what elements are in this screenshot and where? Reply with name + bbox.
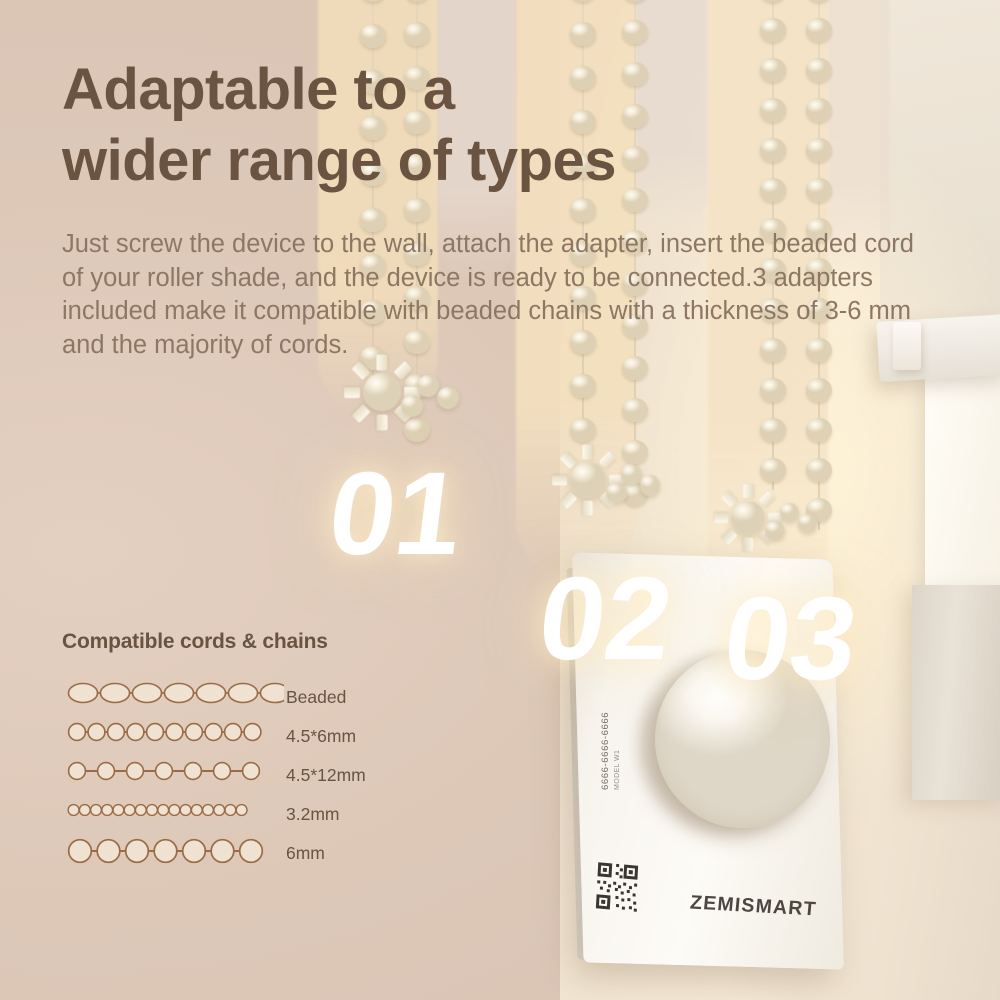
adapter-tooth — [394, 361, 413, 380]
page-title: Adaptable to a wider range of types — [62, 55, 762, 197]
chain-bead — [622, 398, 648, 422]
adapter-tooth — [583, 501, 593, 516]
product-infographic: 6666-6666-6666 MODEL W1 ZEMISMART 01 — [0, 0, 1000, 1000]
adapter-tooth — [552, 475, 567, 485]
qr-code-icon — [594, 860, 640, 914]
cord-row: Beaded — [62, 678, 422, 717]
description-text: Just screw the device to the wall, attac… — [62, 228, 932, 363]
chain-diagram-tiny-bead-chain-icon — [62, 795, 284, 834]
adapter-tooth — [377, 414, 388, 430]
adapter-bead — [437, 387, 459, 409]
adapter-bead — [606, 483, 627, 504]
chain-bead — [760, 178, 786, 202]
chain-bead — [760, 378, 786, 402]
chain-bead — [760, 138, 786, 162]
step-number-01: 01 — [323, 455, 469, 573]
adapter-tooth — [759, 490, 776, 507]
adapter-tooth — [351, 361, 370, 380]
chain-bead — [360, 0, 386, 2]
cord-row: 3.2mm — [62, 795, 422, 834]
chain-diagram-oval-chain-icon — [62, 678, 284, 717]
chain-diagram-large-circle-chain-icon — [62, 834, 284, 873]
chain-bead — [806, 458, 832, 482]
chain-bead — [622, 0, 648, 2]
adapter-bead — [765, 521, 785, 541]
chain-bead — [760, 58, 786, 82]
adapter-tooth — [599, 451, 617, 469]
device-serial-number: 6666-6666-6666 — [600, 712, 611, 790]
chain-bead — [360, 24, 386, 48]
chain-bead — [806, 138, 832, 162]
adapter-tooth — [743, 484, 753, 498]
cord-label: 4.5*6mm — [284, 726, 356, 747]
adapter-bead — [640, 475, 661, 496]
cord-label: 3.2mm — [284, 804, 339, 825]
adapter-hub-icon — [731, 501, 765, 535]
adapter-bead — [780, 503, 800, 523]
roller-blind-fabric — [925, 375, 1000, 590]
chain-bead — [760, 18, 786, 42]
chain-bead — [404, 0, 430, 2]
chain-bead — [806, 98, 832, 122]
adapter-tooth — [583, 444, 593, 459]
chain-bead — [806, 378, 832, 402]
step-number-03: 03 — [718, 580, 864, 698]
chain-bead — [806, 418, 832, 442]
cords-list: Beaded4.5*6mm4.5*12mm3.2mm6mm — [62, 678, 422, 873]
chain-bead — [760, 418, 786, 442]
cord-label: 4.5*12mm — [284, 765, 366, 786]
chain-bead — [760, 0, 786, 2]
cord-row: 6mm — [62, 834, 422, 873]
chain-bead — [570, 0, 596, 2]
adapter-hub-icon — [570, 462, 606, 498]
chain-bead — [570, 22, 596, 46]
device-model-text: MODEL W1 — [614, 750, 621, 790]
adapter-hub-icon — [363, 373, 401, 411]
chain-bead — [404, 22, 430, 46]
wall-corner-panel — [912, 585, 1000, 800]
chain-bead — [570, 374, 596, 398]
chain-diagram-spaced-circle-chain-icon — [62, 756, 284, 795]
chain-diagram-small-circle-chain-icon — [62, 717, 284, 756]
headline-line-2: wider range of types — [62, 126, 762, 197]
cord-label: 6mm — [284, 843, 325, 864]
adapter-tooth — [720, 529, 737, 546]
cord-row: 4.5*12mm — [62, 756, 422, 795]
chain-bead — [404, 198, 430, 222]
compatible-cords-section: Compatible cords & chains Beaded4.5*6mm4… — [62, 630, 422, 873]
adapter-bead — [401, 395, 423, 417]
chain-bead — [806, 178, 832, 202]
adapter-bead — [417, 375, 439, 397]
adapter-tooth — [351, 404, 370, 423]
chain-bead — [760, 98, 786, 122]
cord-label: Beaded — [284, 687, 346, 708]
chain-bead — [806, 0, 832, 2]
chain-bead — [806, 18, 832, 42]
adapter-tooth — [344, 387, 360, 398]
adapter-bead — [621, 464, 642, 485]
adapter-tooth — [714, 513, 728, 523]
adapter-tooth — [743, 538, 753, 552]
adapter-gear-02 — [532, 424, 645, 537]
step-number-02: 02 — [533, 560, 679, 678]
headline-line-1: Adaptable to a — [62, 55, 762, 126]
adapter-tooth — [720, 490, 737, 507]
cord-row: 4.5*6mm — [62, 717, 422, 756]
cords-section-title: Compatible cords & chains — [62, 630, 422, 654]
adapter-tooth — [559, 491, 577, 509]
chain-bead — [806, 58, 832, 82]
chain-bead — [622, 20, 648, 44]
chain-bead — [570, 198, 596, 222]
